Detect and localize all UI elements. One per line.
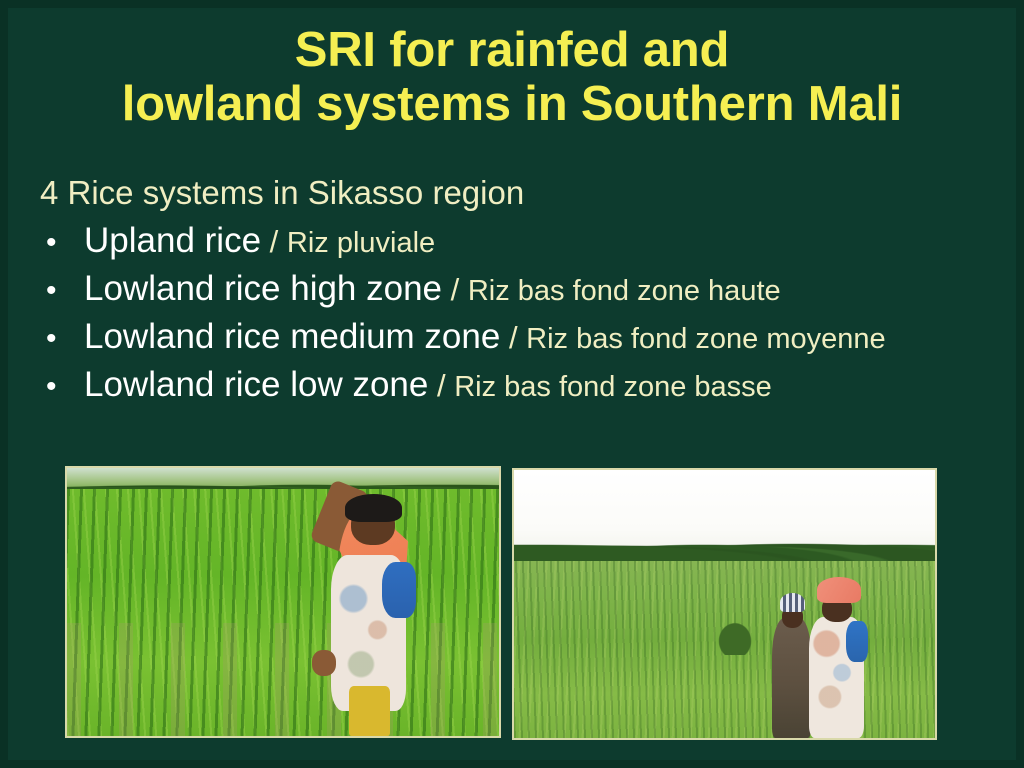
photo-soil bbox=[67, 623, 499, 736]
bullet-text: Lowland rice low zone / Riz bas fond zon… bbox=[84, 367, 772, 404]
bullet-text: Lowland rice medium zone / Riz bas fond … bbox=[84, 319, 886, 356]
bullet-english-1: Upland rice bbox=[84, 221, 261, 260]
bullet-separator-4: / bbox=[428, 368, 454, 403]
bullet-icon bbox=[46, 276, 68, 306]
photo-farmer-figure bbox=[305, 484, 435, 736]
title-line-1: SRI for rainfed and bbox=[0, 26, 1024, 76]
bullet-text: Lowland rice high zone / Riz bas fond zo… bbox=[84, 271, 781, 308]
list-item: Lowland rice high zone / Riz bas fond zo… bbox=[40, 271, 1000, 308]
woman-head-wrap bbox=[817, 577, 861, 603]
bullet-french-2: Riz bas fond zone haute bbox=[468, 275, 781, 307]
photo-content bbox=[514, 470, 935, 738]
bullet-english-2: Lowland rice high zone bbox=[84, 269, 442, 308]
farmer-yellow-skirt bbox=[349, 686, 390, 736]
photo-content bbox=[67, 468, 499, 736]
photo-bush bbox=[716, 620, 754, 655]
title-line-2: lowland systems in Southern Mali bbox=[0, 80, 1024, 130]
bullet-english-3: Lowland rice medium zone bbox=[84, 317, 500, 356]
list-item: Upland rice / Riz pluviale bbox=[40, 223, 1000, 260]
bullet-english-4: Lowland rice low zone bbox=[84, 365, 428, 404]
bullet-icon bbox=[46, 228, 68, 258]
list-item: Lowland rice low zone / Riz bas fond zon… bbox=[40, 367, 1000, 404]
farmer-head-wrap bbox=[345, 494, 402, 522]
presentation-slide: SRI for rainfed and lowland systems in S… bbox=[0, 0, 1024, 768]
slide-body: 4 Rice systems in Sikasso region Upland … bbox=[40, 176, 1000, 404]
bullet-french-3: Riz bas fond zone moyenne bbox=[526, 323, 886, 355]
photo-lowland-rice-field bbox=[512, 468, 937, 740]
slide-title: SRI for rainfed and lowland systems in S… bbox=[0, 26, 1024, 130]
photo-woman-with-headwrap bbox=[804, 577, 871, 738]
bullet-icon bbox=[46, 324, 68, 354]
lead-line: 4 Rice systems in Sikasso region bbox=[40, 176, 1000, 209]
farmer-hand bbox=[312, 650, 335, 675]
bullet-icon bbox=[46, 372, 68, 402]
bullet-separator-1: / bbox=[261, 224, 287, 259]
bullet-separator-2: / bbox=[442, 272, 468, 307]
bullet-french-1: Riz pluviale bbox=[287, 227, 435, 259]
farmer-blue-sleeve bbox=[382, 562, 416, 617]
photo-upland-rice-farmer bbox=[65, 466, 501, 738]
woman-striped-cap bbox=[780, 593, 805, 612]
bullet-separator-3: / bbox=[500, 320, 526, 355]
list-item: Lowland rice medium zone / Riz bas fond … bbox=[40, 319, 1000, 356]
bullet-french-4: Riz bas fond zone basse bbox=[454, 371, 772, 403]
bullet-text: Upland rice / Riz pluviale bbox=[84, 223, 435, 260]
woman-blue-sleeve bbox=[846, 621, 868, 663]
